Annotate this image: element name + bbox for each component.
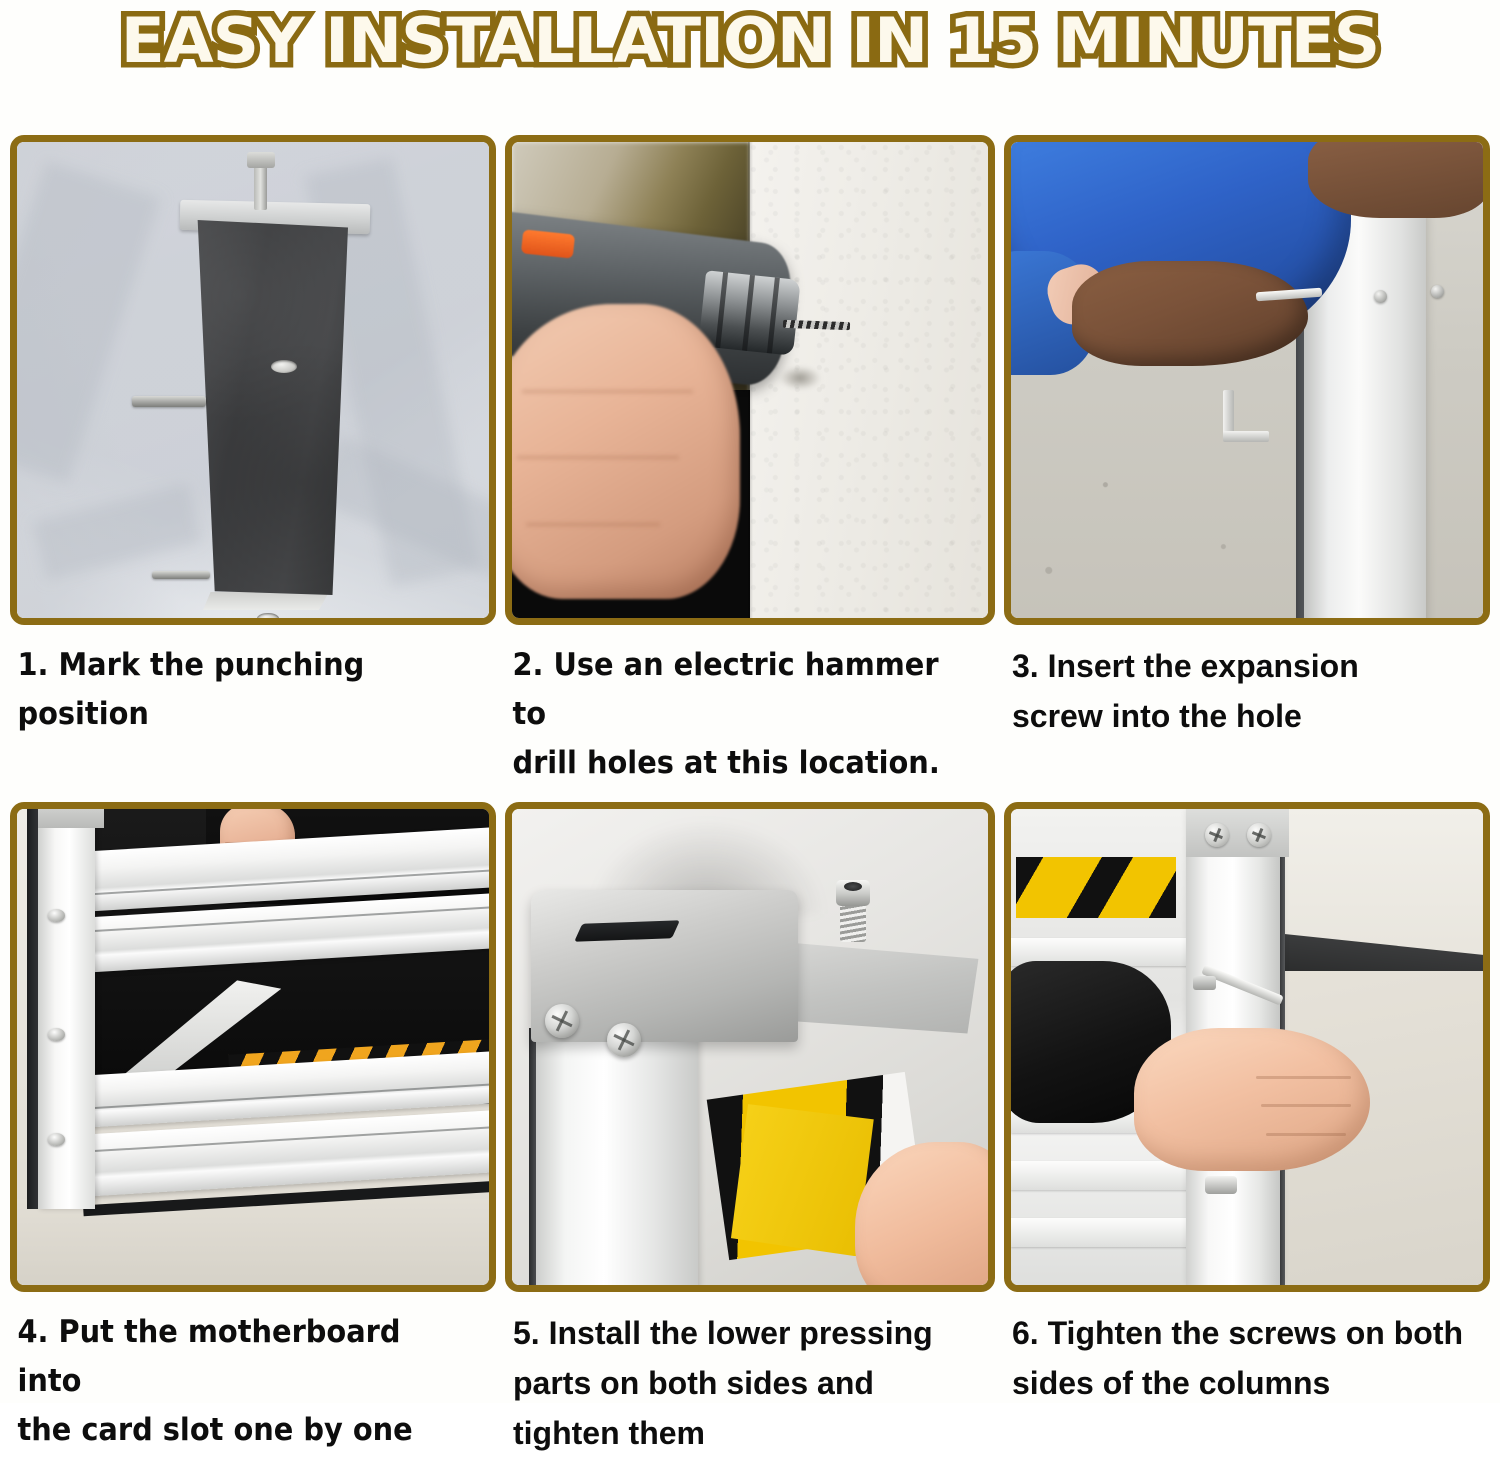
- page-title: EASY INSTALLATION IN 15 MINUTES: [121, 4, 1379, 78]
- step-card-5: 5. Install the lower pressing parts on b…: [505, 802, 995, 1458]
- step-image-4: [17, 809, 489, 1285]
- step-caption-1: 1. Mark the punching position: [10, 625, 462, 739]
- step-card-4: 4. Put the motherboard into the card slo…: [10, 802, 496, 1458]
- step-card-2: 2. Use an electric hammer to drill holes…: [505, 135, 995, 788]
- step-image-2: [512, 142, 988, 618]
- step-image-6: [1011, 809, 1483, 1285]
- step-image-3: [1011, 142, 1483, 618]
- step-caption-4: 4. Put the motherboard into the card slo…: [10, 1292, 462, 1455]
- step-photo-frame-4: [10, 802, 496, 1292]
- step-image-1: [17, 142, 489, 618]
- title-banner: EASY INSTALLATION IN 15 MINUTES: [0, 0, 1500, 100]
- step-photo-frame-6: [1004, 802, 1490, 1292]
- step-caption-6: 6. Tighten the screws on both sides of t…: [1004, 1292, 1490, 1408]
- step-photo-frame-3: [1004, 135, 1490, 625]
- steps-grid: 1. Mark the punching position: [10, 135, 1490, 1458]
- step-photo-frame-1: [10, 135, 496, 625]
- step-card-3: 3. Insert the expansion screw into the h…: [1004, 135, 1490, 788]
- step-caption-2: 2. Use an electric hammer to drill holes…: [505, 625, 961, 788]
- step-card-1: 1. Mark the punching position: [10, 135, 496, 788]
- step-card-6: 6. Tighten the screws on both sides of t…: [1004, 802, 1490, 1458]
- bolt-icon: [836, 880, 870, 940]
- step-caption-5: 5. Install the lower pressing parts on b…: [505, 1292, 995, 1458]
- step-caption-3: 3. Insert the expansion screw into the h…: [1004, 625, 1490, 741]
- step-photo-frame-2: [505, 135, 995, 625]
- step-image-5: [512, 809, 988, 1285]
- step-photo-frame-5: [505, 802, 995, 1292]
